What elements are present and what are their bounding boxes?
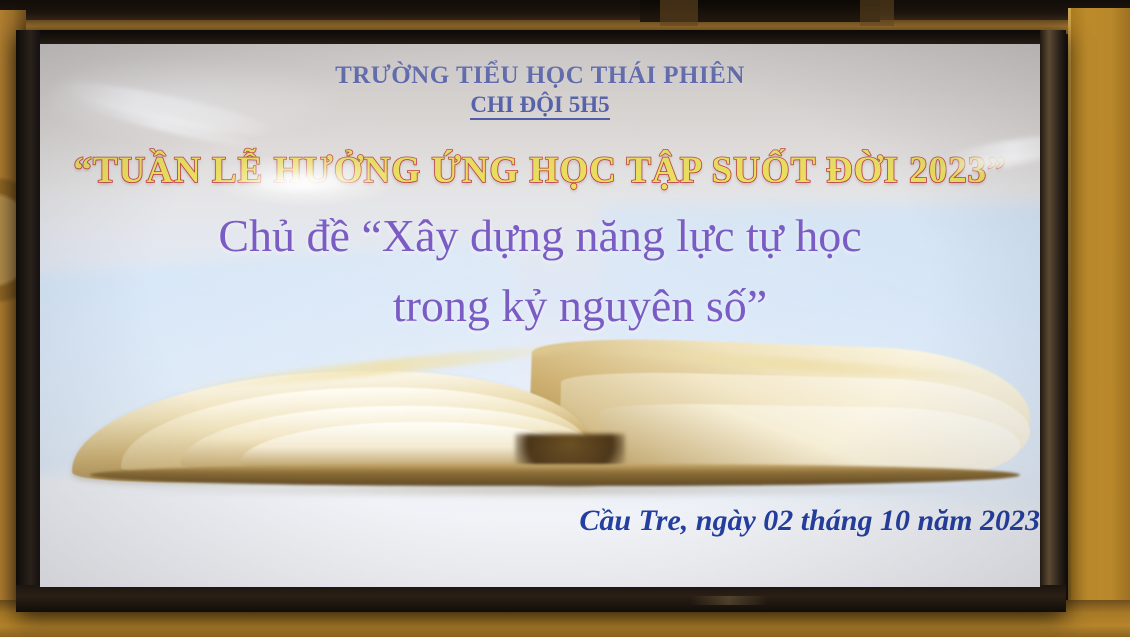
ceiling-fixture-detail-left xyxy=(660,0,698,26)
ceiling-fixture-detail-right xyxy=(860,0,894,26)
wall-panel-right xyxy=(1068,8,1130,637)
tv-brand-logo xyxy=(690,596,768,605)
screen-vignette xyxy=(40,44,1040,587)
tv-bezel-right xyxy=(1040,30,1066,612)
tv-bezel-left xyxy=(16,30,40,612)
room-photo: TRƯỜNG TIỂU HỌC THÁI PHIÊN CHI ĐỘI 5H5 “… xyxy=(0,0,1130,637)
tv-bezel-top xyxy=(16,30,1066,44)
wall-panel-right-seam xyxy=(1068,8,1071,637)
tv-screen[interactable]: TRƯỜNG TIỂU HỌC THÁI PHIÊN CHI ĐỘI 5H5 “… xyxy=(40,44,1040,587)
tv-bezel-bottom xyxy=(16,585,1066,612)
